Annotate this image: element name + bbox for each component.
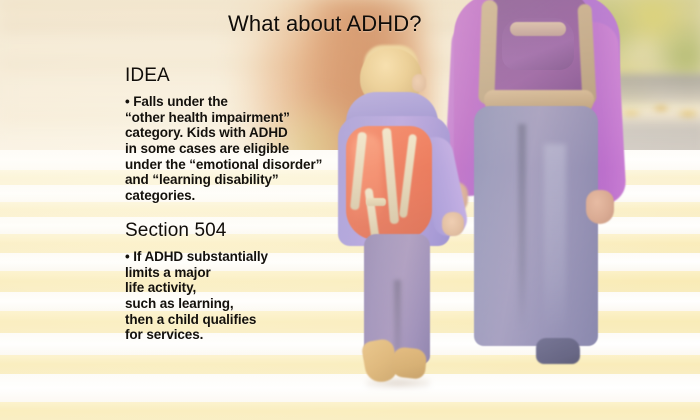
- block-heading-section-504: Section 504: [125, 221, 268, 241]
- body-line: life activity,: [125, 280, 268, 296]
- child-hand: [442, 212, 464, 236]
- body-line: • If ADHD substantially: [125, 249, 268, 265]
- page-title: What about ADHD?: [228, 11, 422, 37]
- body-line: under the “emotional disorder”: [125, 157, 322, 173]
- body-line: limits a major: [125, 265, 268, 281]
- body-line: category. Kids with ADHD: [125, 125, 322, 141]
- body-line: then a child qualifies: [125, 312, 268, 328]
- slide-canvas: What about ADHD? IDEA • Falls under the …: [0, 0, 700, 420]
- child-shoe-right: [391, 346, 428, 379]
- block-body-section-504: • If ADHD substantially limits a major l…: [125, 249, 268, 343]
- body-line: and “learning disability”: [125, 172, 322, 188]
- adult-jeans-fold: [518, 124, 526, 330]
- background-photo: [0, 0, 700, 420]
- adult-shoe: [536, 338, 580, 364]
- body-line: for services.: [125, 327, 268, 343]
- adult-right-hand: [586, 190, 614, 224]
- child-figure: [330, 48, 470, 420]
- content-block-section-504: Section 504 • If ADHD substantially limi…: [125, 221, 268, 343]
- body-line: “other health impairment”: [125, 110, 322, 126]
- body-line: categories.: [125, 188, 322, 204]
- adult-jeans-highlight: [544, 144, 566, 334]
- content-block-idea: IDEA • Falls under the “other health imp…: [125, 66, 322, 204]
- block-body-idea: • Falls under the “other health impairme…: [125, 94, 322, 204]
- adult-figure: [448, 0, 624, 414]
- child-ear: [412, 74, 426, 92]
- adult-backpack-zipper: [510, 22, 566, 36]
- adult-jeans: [474, 106, 598, 346]
- block-heading-idea: IDEA: [125, 66, 322, 86]
- body-line: in some cases are eligible: [125, 141, 322, 157]
- child-backpack-buckle: [366, 198, 386, 206]
- body-line: such as learning,: [125, 296, 268, 312]
- body-line: • Falls under the: [125, 94, 322, 110]
